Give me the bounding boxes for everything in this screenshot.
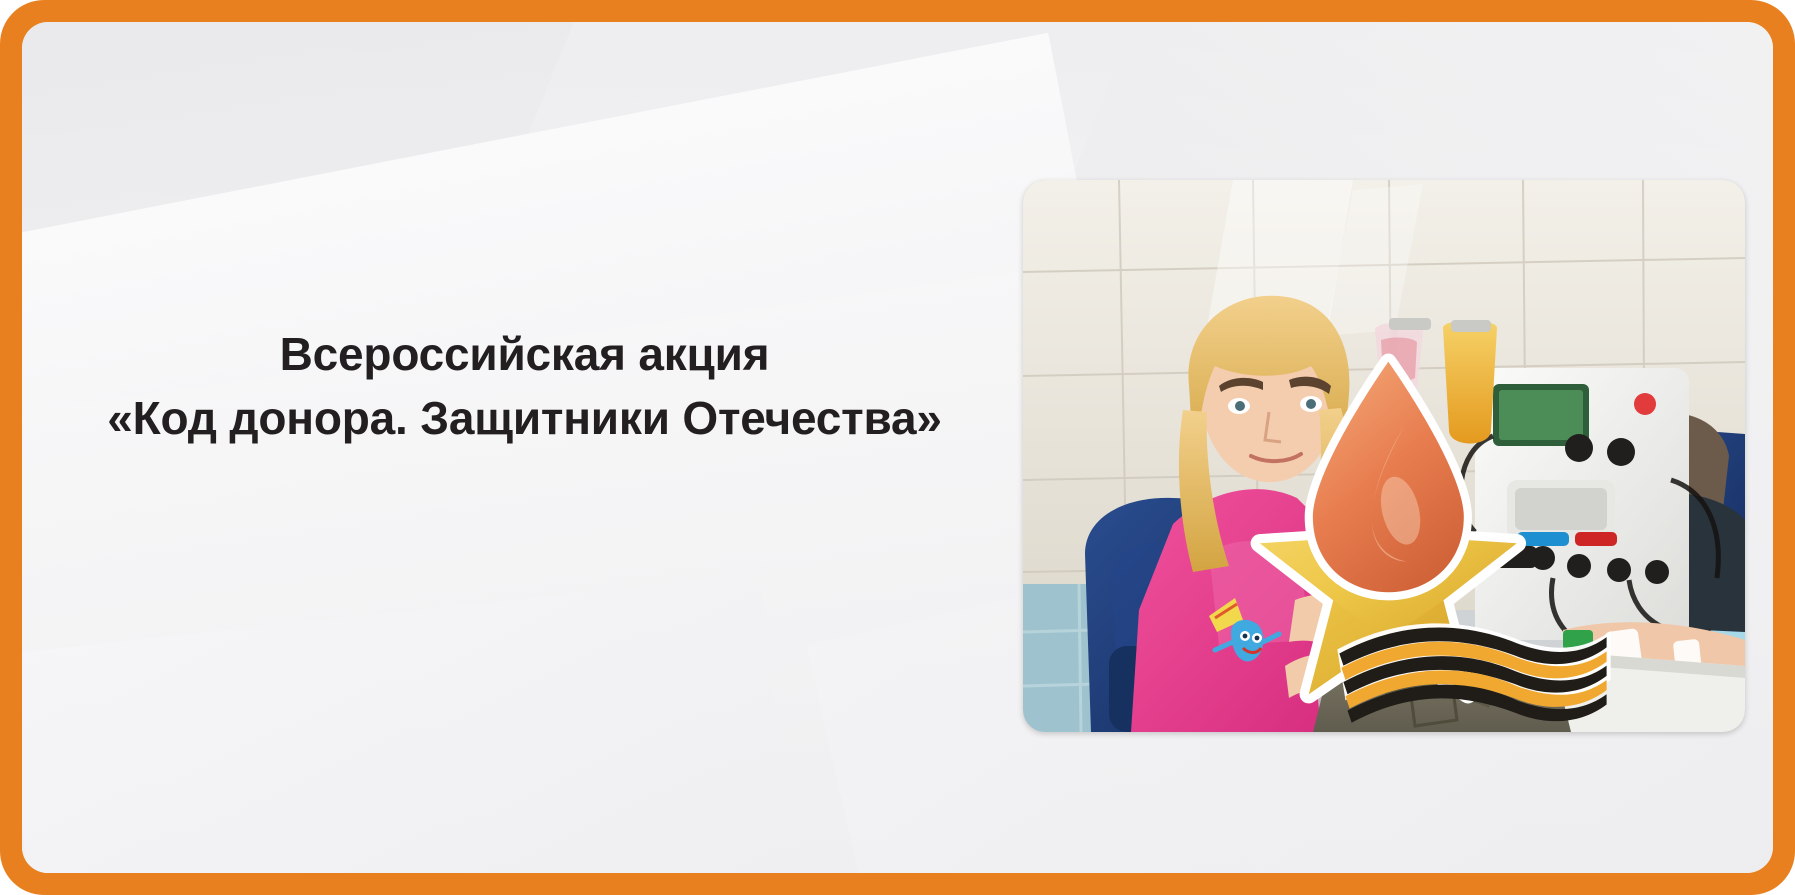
- slide-canvas: Всероссийская акция «Код донора. Защитни…: [22, 22, 1773, 873]
- page-title-line-1: Всероссийская акция: [22, 322, 1027, 386]
- donation-photo-illustration: [1023, 180, 1745, 732]
- page-title: Всероссийская акция «Код донора. Защитни…: [22, 322, 1027, 450]
- donation-photo: [1023, 180, 1745, 732]
- page-title-line-2: «Код донора. Защитники Отечества»: [22, 386, 1027, 450]
- slide-frame: Всероссийская акция «Код донора. Защитни…: [0, 0, 1795, 895]
- background-facet-g: [22, 574, 800, 873]
